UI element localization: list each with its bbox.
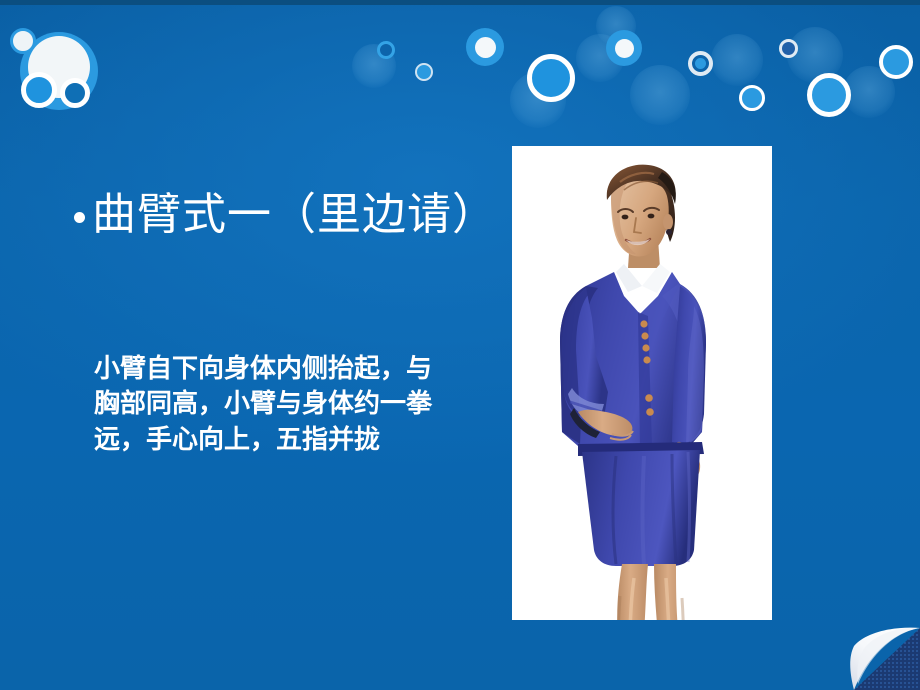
bubble-ring xyxy=(527,54,575,102)
slide-title: 曲臂式一（里边请） xyxy=(62,186,482,243)
bubble-dot xyxy=(415,63,433,81)
bubble-core xyxy=(695,58,706,69)
page-curl-corner xyxy=(836,618,920,690)
soft-blob xyxy=(630,65,690,125)
bubble-ring xyxy=(377,41,395,59)
bubble-logo-mark xyxy=(6,24,110,120)
bubble-core xyxy=(475,37,496,58)
title-block: 曲臂式一（里边请） xyxy=(62,186,482,243)
slide-body-text: 小臂自下向身体内侧抬起，与胸部同高，小臂与身体约一拳远，手心向上，五指并拢 xyxy=(94,352,454,458)
bubble-dot xyxy=(739,85,765,111)
logo-small-ring-icon xyxy=(10,28,36,54)
bubble-ring xyxy=(879,45,913,79)
bubble-ring xyxy=(807,73,851,117)
logo-medium-ring-icon xyxy=(21,72,57,108)
slide-canvas: 曲臂式一（里边请） 小臂自下向身体内侧抬起，与胸部同高，小臂与身体约一拳远，手心… xyxy=(0,0,920,690)
logo-large-ring-icon xyxy=(60,78,90,108)
bubble-decoration-band xyxy=(0,0,920,132)
body-block: 小臂自下向身体内侧抬起，与胸部同高，小臂与身体约一拳远，手心向上，五指并拢 xyxy=(94,352,454,458)
bubble-core xyxy=(615,39,634,58)
usher-gesture-photo xyxy=(512,146,772,620)
soft-blob xyxy=(711,34,763,86)
title-bullet-icon xyxy=(74,212,85,223)
photo-frame xyxy=(512,146,772,620)
bubble-ring xyxy=(779,39,798,58)
